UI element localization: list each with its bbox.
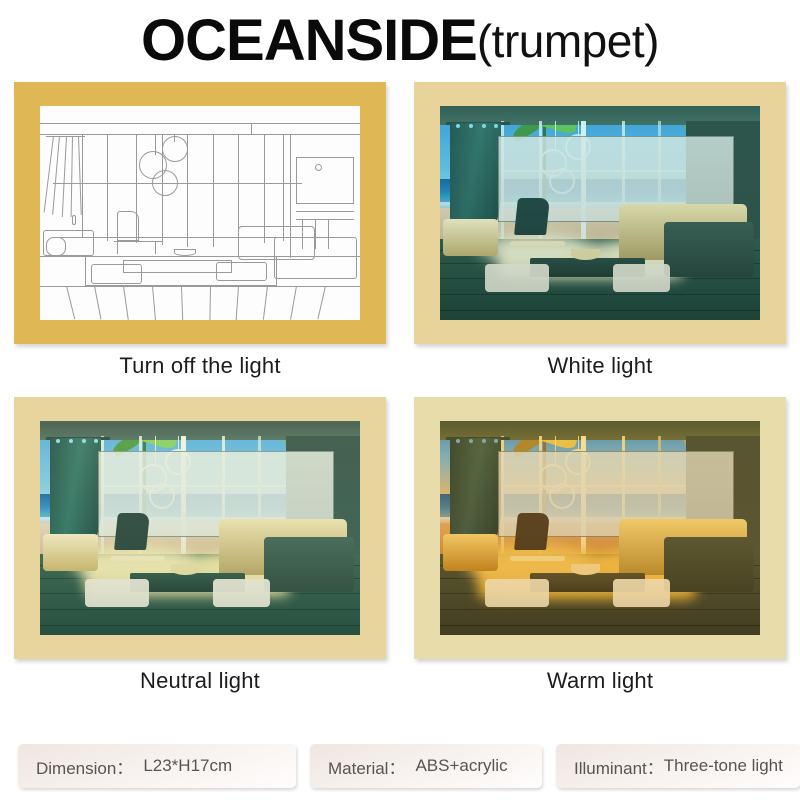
spec-material-label: Material： — [328, 754, 405, 779]
armchair-left — [443, 534, 497, 570]
spec-illuminant: Illuminant： Three-tone light — [556, 744, 800, 788]
armchair-left — [443, 219, 497, 255]
photo-frame-white-light — [414, 82, 786, 344]
lounge-chair — [510, 513, 564, 564]
sofa-right-dark — [664, 222, 754, 278]
beach-scene-white — [440, 106, 760, 320]
spec-dimension: Dimension： L23*H17cm — [18, 744, 296, 788]
spec-material-value: ABS+acrylic — [415, 756, 507, 776]
sofa-right-dark — [264, 537, 354, 593]
product-title-variant: (trumpet) — [477, 18, 659, 64]
rug-right — [213, 579, 271, 607]
beach-scene-neutral — [40, 421, 360, 635]
panel-light-off[interactable]: Turn off the light — [0, 82, 400, 397]
panel-neutral-light[interactable]: Neutral light — [0, 397, 400, 712]
page-title: OCEANSIDE (trumpet) — [0, 0, 800, 82]
frame-artwork-light-off — [40, 106, 360, 320]
panel-caption-white-light: White light — [548, 353, 653, 379]
lounge-chair — [110, 513, 164, 564]
specification-row: Dimension： L23*H17cm Material： ABS+acryl… — [18, 742, 800, 790]
curtain-ring — [469, 124, 473, 128]
spec-material: Material： ABS+acrylic — [310, 744, 542, 788]
curtain-ring — [482, 124, 486, 128]
curtain-ring — [482, 439, 486, 443]
panel-caption-light-off: Turn off the light — [119, 353, 280, 379]
curtain-ring — [69, 439, 73, 443]
sofa-right-dark — [664, 537, 754, 593]
rug-left — [485, 264, 549, 292]
frame-artwork-neutral-light — [40, 421, 360, 635]
lineart-scene — [40, 106, 360, 320]
panel-caption-neutral-light: Neutral light — [140, 668, 260, 694]
panel-warm-light[interactable]: Warm light — [400, 397, 800, 712]
spec-dimension-label: Dimension： — [36, 754, 133, 779]
panel-caption-warm-light: Warm light — [547, 668, 653, 694]
rug-right — [613, 579, 671, 607]
photo-frame-light-off — [14, 82, 386, 344]
lounge-chair — [510, 198, 564, 249]
curtain-ring — [82, 439, 86, 443]
rug-right — [613, 264, 671, 292]
photo-frame-warm-light — [414, 397, 786, 659]
frame-artwork-white-light — [440, 106, 760, 320]
spec-dimension-value: L23*H17cm — [143, 756, 232, 776]
light-mode-gallery: Turn off the light — [0, 82, 800, 712]
photo-frame-neutral-light — [14, 397, 386, 659]
rug-left — [85, 579, 149, 607]
frame-artwork-warm-light — [440, 421, 760, 635]
product-title-main: OCEANSIDE — [141, 12, 477, 70]
rug-left — [485, 579, 549, 607]
curtain-ring — [469, 439, 473, 443]
spec-illuminant-value: Three-tone light — [664, 756, 783, 776]
armchair-left — [43, 534, 97, 570]
panel-white-light[interactable]: White light — [400, 82, 800, 397]
spec-illuminant-label: Illuminant： — [574, 754, 664, 779]
beach-scene-warm — [440, 421, 760, 635]
